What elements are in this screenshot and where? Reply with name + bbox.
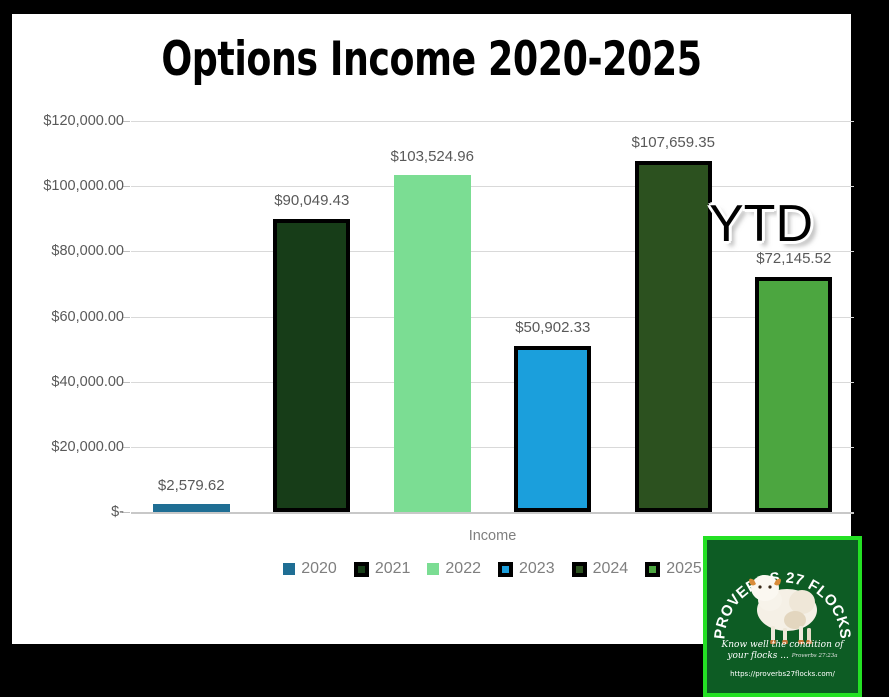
logo-tagline-line2: your flocks ... (727, 651, 788, 661)
bar-value-label-2024: $107,659.35 (632, 134, 715, 151)
bar-2020[interactable] (153, 504, 230, 512)
gridline (131, 317, 854, 318)
gridline (131, 186, 854, 187)
legend-swatch-2022 (427, 563, 439, 575)
bar-2025[interactable] (755, 277, 832, 512)
gridline (131, 121, 854, 122)
legend-swatch-2023 (498, 562, 513, 577)
bar-value-label-2021: $90,049.43 (274, 192, 349, 209)
bar-2023[interactable] (514, 346, 591, 512)
legend-label-2021: 2021 (375, 560, 411, 578)
legend-swatch-2024 (572, 562, 587, 577)
gridline (131, 447, 854, 448)
chart-canvas: Options Income 2020-2025 $120,000.00$100… (12, 14, 851, 644)
y-axis-tick-label: $80,000.00 (0, 243, 124, 259)
logo-tagline: Know well the condition of your flocks .… (707, 640, 858, 662)
legend-item-2023[interactable]: 2023 (498, 560, 555, 578)
y-axis-tick-label: $- (0, 504, 124, 520)
y-axis-tick-label: $20,000.00 (0, 439, 124, 455)
bar-2024[interactable] (635, 161, 712, 512)
legend-label-2022: 2022 (445, 560, 481, 578)
ytd-annotation: YTD (709, 194, 813, 254)
y-axis-tick-label: $100,000.00 (0, 178, 124, 194)
legend-item-2024[interactable]: 2024 (572, 560, 629, 578)
legend-item-2021[interactable]: 2021 (354, 560, 411, 578)
legend-swatch-2021 (354, 562, 369, 577)
legend-swatch-2020 (283, 563, 295, 575)
y-axis-tick-label: $40,000.00 (0, 374, 124, 390)
legend-item-2022[interactable]: 2022 (427, 560, 481, 578)
legend-label-2023: 2023 (519, 560, 555, 578)
legend-label-2020: 2020 (301, 560, 337, 578)
legend-item-2020[interactable]: 2020 (283, 560, 337, 578)
gridline (131, 512, 854, 514)
image-frame: Options Income 2020-2025 $120,000.00$100… (0, 0, 889, 697)
bar-value-label-2022: $103,524.96 (391, 148, 474, 165)
logo-url[interactable]: https://proverbs27flocks.com/ (707, 670, 858, 678)
bar-2021[interactable] (273, 219, 350, 512)
y-axis-tick-label: $60,000.00 (0, 309, 124, 325)
bar-2022[interactable] (394, 175, 471, 512)
chart-title: Options Income 2020-2025 (71, 32, 793, 87)
bar-value-label-2020: $2,579.62 (158, 477, 225, 494)
legend-label-2025: 2025 (666, 560, 702, 578)
bar-value-label-2023: $50,902.33 (515, 319, 590, 336)
legend-label-2024: 2024 (593, 560, 629, 578)
logo-tagline-line1: Know well the condition of (722, 640, 844, 650)
legend-swatch-2025 (645, 562, 660, 577)
y-axis-tick-label: $120,000.00 (0, 113, 124, 129)
brand-logo[interactable]: PROVERBS 27 FLOCKS (703, 536, 862, 697)
legend-item-2025[interactable]: 2025 (645, 560, 702, 578)
plot-area: $120,000.00$100,000.00$80,000.00$60,000.… (131, 121, 854, 512)
gridline (131, 382, 854, 383)
logo-scripture-ref: Proverbs 27:23a (792, 653, 838, 659)
